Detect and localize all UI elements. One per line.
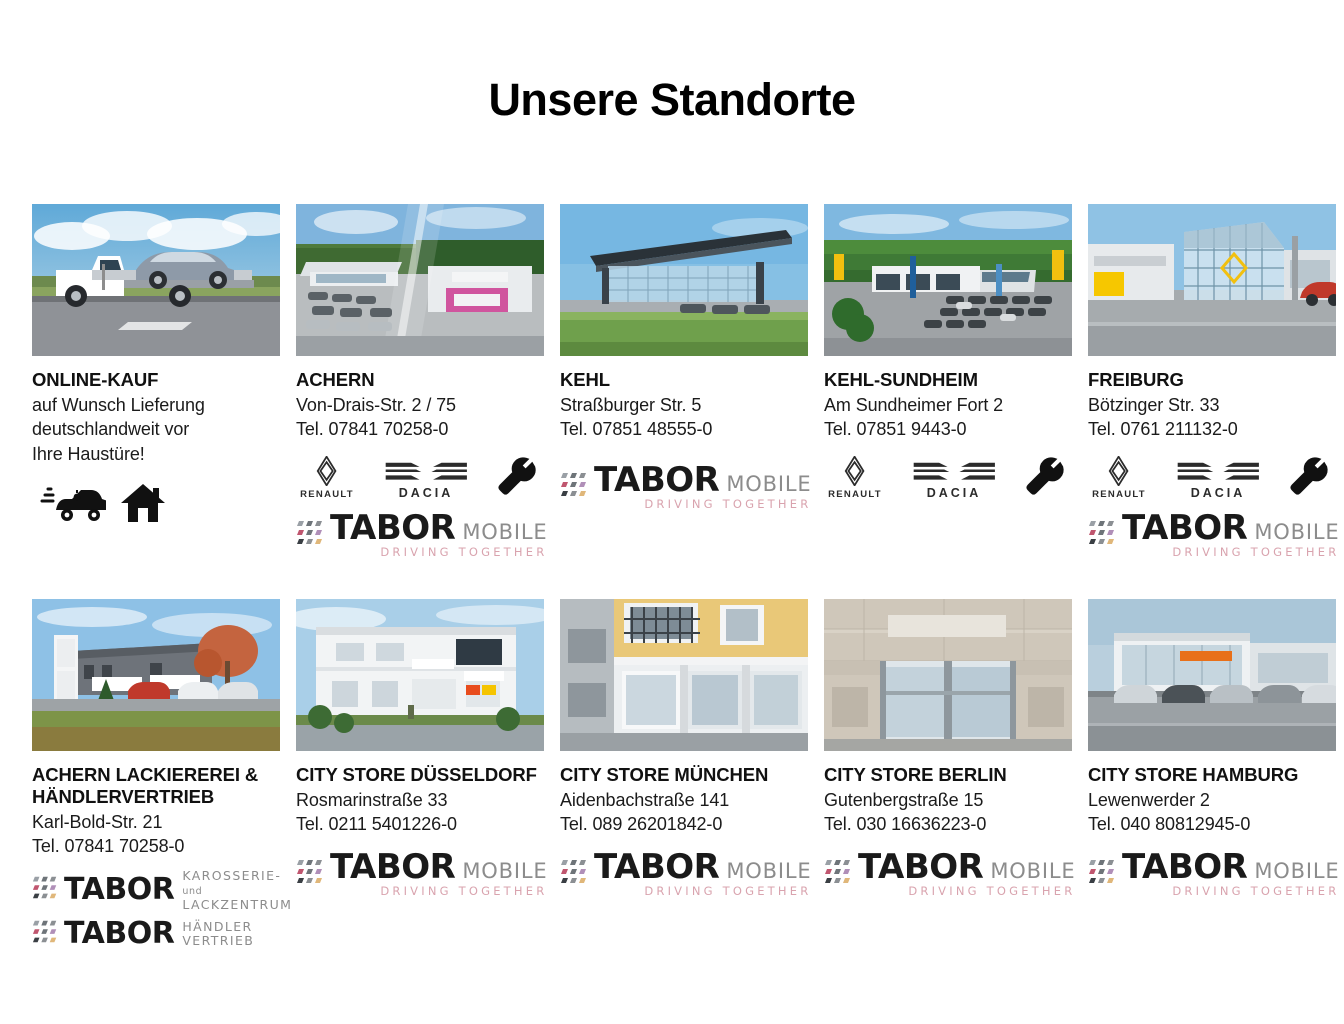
- renault-diamond-icon: [315, 456, 338, 486]
- card-body: KEHL Straßburger Str. 5 Tel. 07851 48555…: [560, 356, 808, 511]
- location-card-achern[interactable]: ACHERN Von-Drais-Str. 2 / 75 Tel. 07841 …: [296, 204, 544, 559]
- location-address: Aidenbachstraße 141: [560, 788, 808, 812]
- locations-row-1: ONLINE-KAUF auf Wunsch Lieferung deutsch…: [32, 204, 1312, 559]
- renault-logo: RENAULT: [1088, 456, 1150, 500]
- tabor-wordmark: TABOR: [594, 464, 719, 496]
- renault-wordmark: RENAULT: [296, 489, 358, 500]
- location-details: auf Wunsch Lieferung deutschlandweit vor…: [32, 393, 280, 466]
- tabor-karosserie-logo: TABOR KAROSSERIE- und LACKZENTRUM: [32, 869, 280, 912]
- location-details: Rosmarinstraße 33 Tel. 0211 5401226-0: [296, 788, 544, 837]
- location-phone: Tel. 040 80812945-0: [1088, 812, 1336, 836]
- card-body: CITY STORE HAMBURG Lewenwerder 2 Tel. 04…: [1088, 751, 1336, 898]
- renault-wordmark: RENAULT: [1088, 489, 1150, 500]
- tabor-wordmark: TABOR: [64, 920, 174, 949]
- location-card-city-store-hamburg[interactable]: CITY STORE HAMBURG Lewenwerder 2 Tel. 04…: [1088, 599, 1336, 951]
- tabor-wordmark-block: TABOR MOBILE DRIVING TOGETHER: [330, 512, 547, 559]
- dacia-emblem-icon: [1176, 461, 1261, 483]
- location-line-1: auf Wunsch Lieferung: [32, 393, 280, 417]
- photo-hamburg-showroom-streetview: [1088, 599, 1336, 751]
- location-details: Bötzinger Str. 33 Tel. 0761 211132-0: [1088, 393, 1336, 442]
- tabor-sub-karosserie-line-2: LACKZENTRUM: [182, 897, 292, 912]
- location-phone: Tel. 07841 70258-0: [32, 834, 280, 858]
- tabor-mobile-logo: TABOR MOBILE DRIVING TOGETHER: [1088, 851, 1336, 898]
- location-card-kehl-sundheim[interactable]: KEHL-SUNDHEIM Am Sundheimer Fort 2 Tel. …: [824, 204, 1072, 559]
- card-body: FREIBURG Bötzinger Str. 33 Tel. 0761 211…: [1088, 356, 1336, 559]
- card-body: CITY STORE MÜNCHEN Aidenbachstraße 141 T…: [560, 751, 808, 898]
- location-address: Am Sundheimer Fort 2: [824, 393, 1072, 417]
- location-name-line-1: ACHERN LACKIEREREI &: [32, 764, 280, 786]
- tabor-wordmark: TABOR: [594, 851, 719, 883]
- photo-muenchen-yellow-facade: [560, 599, 808, 751]
- location-card-freiburg[interactable]: FREIBURG Bötzinger Str. 33 Tel. 0761 211…: [1088, 204, 1336, 559]
- photo-duesseldorf-white-building: [296, 599, 544, 751]
- photo-freiburg-renault-showroom: [1088, 204, 1336, 356]
- tabor-sub-karosserie: KAROSSERIE- und LACKZENTRUM: [182, 869, 292, 912]
- location-address: Lewenwerder 2: [1088, 788, 1336, 812]
- photo-berlin-stone-facade-entrance: [824, 599, 1072, 751]
- tabor-mobile-logo: TABOR MOBILE DRIVING TOGETHER: [824, 851, 1072, 898]
- tabor-sub-mobile: MOBILE: [726, 861, 811, 882]
- location-name: KEHL-SUNDHEIM: [824, 369, 1072, 391]
- dacia-wordmark: DACIA: [902, 486, 1006, 500]
- location-name: CITY STORE MÜNCHEN: [560, 764, 808, 786]
- tabor-mobile-logo: TABOR MOBILE DRIVING TOGETHER: [560, 464, 808, 511]
- location-name: ACHERN: [296, 369, 544, 391]
- location-name-line-2: HÄNDLERVERTRIEB: [32, 786, 280, 808]
- location-details: Am Sundheimer Fort 2 Tel. 07851 9443-0: [824, 393, 1072, 442]
- tabor-sub-mobile: MOBILE: [726, 474, 811, 495]
- location-phone: Tel. 07851 48555-0: [560, 417, 808, 441]
- tabor-wordmark-block: TABOR MOBILE DRIVING TOGETHER: [1122, 851, 1339, 898]
- wrench-icon: [1288, 456, 1330, 500]
- tabor-dots-icon: [32, 918, 60, 951]
- tabor-sub-mobile: MOBILE: [462, 861, 547, 882]
- tabor-sub-mobile: MOBILE: [462, 522, 547, 543]
- location-line-3: Ihre Haustüre!: [32, 442, 280, 466]
- location-line-2: deutschlandweit vor: [32, 417, 280, 441]
- card-body: ACHERN LACKIEREREI & HÄNDLERVERTRIEB Kar…: [32, 751, 280, 951]
- location-address: Karl-Bold-Str. 21: [32, 810, 280, 834]
- dacia-wordmark: DACIA: [374, 486, 478, 500]
- location-card-online-kauf[interactable]: ONLINE-KAUF auf Wunsch Lieferung deutsch…: [32, 204, 280, 559]
- tabor-wordmark: TABOR: [330, 851, 455, 883]
- location-name: ACHERN LACKIEREREI & HÄNDLERVERTRIEB: [32, 764, 280, 808]
- tabor-wordmark-block: TABOR MOBILE DRIVING TOGETHER: [594, 464, 811, 511]
- tabor-haendlervertrieb-logo: TABOR HÄNDLER VERTRIEB: [32, 918, 280, 951]
- tabor-sub-haendler-line-2: VERTRIEB: [182, 933, 254, 948]
- dacia-emblem-icon: [384, 461, 469, 483]
- location-phone: Tel. 030 16636223-0: [824, 812, 1072, 836]
- location-address: Gutenbergstraße 15: [824, 788, 1072, 812]
- location-details: Von-Drais-Str. 2 / 75 Tel. 07841 70258-0: [296, 393, 544, 442]
- tabor-mobile-logo: TABOR MOBILE DRIVING TOGETHER: [1088, 512, 1336, 559]
- location-address: Rosmarinstraße 33: [296, 788, 544, 812]
- photo-kehl-glass-showroom: [560, 204, 808, 356]
- location-card-kehl[interactable]: KEHL Straßburger Str. 5 Tel. 07851 48555…: [560, 204, 808, 559]
- locations-grid: ONLINE-KAUF auf Wunsch Lieferung deutsch…: [32, 204, 1312, 951]
- tabor-wordmark-block: TABOR MOBILE DRIVING TOGETHER: [330, 851, 547, 898]
- photo-achern-dealership-exterior: [296, 204, 544, 356]
- tabor-wordmark: TABOR: [64, 876, 174, 905]
- location-name: CITY STORE HAMBURG: [1088, 764, 1336, 786]
- renault-diamond-icon: [843, 456, 866, 486]
- tabor-dots-icon: [560, 470, 590, 505]
- tabor-sub-haendler: HÄNDLER VERTRIEB: [182, 920, 254, 948]
- location-card-city-store-muenchen[interactable]: CITY STORE MÜNCHEN Aidenbachstraße 141 T…: [560, 599, 808, 951]
- location-details: Aidenbachstraße 141 Tel. 089 26201842-0: [560, 788, 808, 837]
- online-kauf-icons: [32, 482, 280, 524]
- card-body: CITY STORE DÜSSELDORF Rosmarinstraße 33 …: [296, 751, 544, 898]
- renault-logo: RENAULT: [824, 456, 886, 500]
- location-phone: Tel. 089 26201842-0: [560, 812, 808, 836]
- tabor-dots-icon: [296, 857, 326, 892]
- tabor-mobile-logo: TABOR MOBILE DRIVING TOGETHER: [560, 851, 808, 898]
- card-body: KEHL-SUNDHEIM Am Sundheimer Fort 2 Tel. …: [824, 356, 1072, 500]
- location-details: Lewenwerder 2 Tel. 040 80812945-0: [1088, 788, 1336, 837]
- location-phone: Tel. 0211 5401226-0: [296, 812, 544, 836]
- location-details: Gutenbergstraße 15 Tel. 030 16636223-0: [824, 788, 1072, 837]
- tabor-dots-icon: [32, 874, 60, 907]
- location-card-city-store-duesseldorf[interactable]: CITY STORE DÜSSELDORF Rosmarinstraße 33 …: [296, 599, 544, 951]
- location-details: Karl-Bold-Str. 21 Tel. 07841 70258-0: [32, 810, 280, 859]
- renault-wordmark: RENAULT: [824, 489, 886, 500]
- tabor-dots-icon: [1088, 518, 1118, 553]
- tabor-sub-karosserie-und: und: [182, 886, 202, 897]
- locations-row-2: ACHERN LACKIEREREI & HÄNDLERVERTRIEB Kar…: [32, 599, 1312, 951]
- location-name: CITY STORE BERLIN: [824, 764, 1072, 786]
- card-body: CITY STORE BERLIN Gutenbergstraße 15 Tel…: [824, 751, 1072, 898]
- dacia-wordmark: DACIA: [1166, 486, 1270, 500]
- location-card-achern-lackiererei[interactable]: ACHERN LACKIEREREI & HÄNDLERVERTRIEB Kar…: [32, 599, 280, 951]
- tabor-wordmark-block: TABOR MOBILE DRIVING TOGETHER: [858, 851, 1075, 898]
- tabor-wordmark: TABOR: [1122, 851, 1247, 883]
- tabor-dots-icon: [1088, 857, 1118, 892]
- tabor-sub-haendler-line-1: HÄNDLER: [182, 919, 252, 934]
- location-phone: Tel. 07841 70258-0: [296, 417, 544, 441]
- tabor-dots-icon: [824, 857, 854, 892]
- location-address: Bötzinger Str. 33: [1088, 393, 1336, 417]
- tabor-wordmark: TABOR: [1122, 512, 1247, 544]
- location-name: ONLINE-KAUF: [32, 369, 280, 391]
- card-body: ACHERN Von-Drais-Str. 2 / 75 Tel. 07841 …: [296, 356, 544, 559]
- tabor-wordmark: TABOR: [330, 512, 455, 544]
- location-address: Straßburger Str. 5: [560, 393, 808, 417]
- tabor-mobile-logo: TABOR MOBILE DRIVING TOGETHER: [296, 851, 544, 898]
- wrench-icon: [1024, 456, 1066, 500]
- tabor-wordmark-block: TABOR MOBILE DRIVING TOGETHER: [594, 851, 811, 898]
- location-card-city-store-berlin[interactable]: CITY STORE BERLIN Gutenbergstraße 15 Tel…: [824, 599, 1072, 951]
- tabor-sub-mobile: MOBILE: [1254, 861, 1339, 882]
- tabor-dots-icon: [296, 518, 326, 553]
- brand-logo-row: RENAULT DACIA: [824, 456, 1072, 500]
- dacia-logo: DACIA: [374, 461, 478, 500]
- renault-diamond-icon: [1107, 456, 1130, 486]
- brand-logo-row: RENAULT DACIA: [1088, 456, 1336, 500]
- photo-achern-lackiererei-building: [32, 599, 280, 751]
- dacia-logo: DACIA: [1166, 461, 1270, 500]
- car-delivery-icon: [32, 484, 106, 524]
- renault-logo: RENAULT: [296, 456, 358, 500]
- location-name: FREIBURG: [1088, 369, 1336, 391]
- locations-page: Unsere Standorte: [0, 0, 1344, 1024]
- location-phone: Tel. 07851 9443-0: [824, 417, 1072, 441]
- location-name: CITY STORE DÜSSELDORF: [296, 764, 544, 786]
- page-title: Unsere Standorte: [0, 74, 1344, 126]
- dacia-emblem-icon: [912, 461, 997, 483]
- location-address: Von-Drais-Str. 2 / 75: [296, 393, 544, 417]
- dacia-logo: DACIA: [902, 461, 1006, 500]
- photo-tow-truck-with-car: [32, 204, 280, 356]
- photo-kehl-sundheim-aerial-lot: [824, 204, 1072, 356]
- location-details: Straßburger Str. 5 Tel. 07851 48555-0: [560, 393, 808, 442]
- tabor-dots-icon: [560, 857, 590, 892]
- tabor-mobile-logo: TABOR MOBILE DRIVING TOGETHER: [296, 512, 544, 559]
- tabor-sub-karosserie-line-1: KAROSSERIE- und: [182, 868, 281, 898]
- tabor-wordmark-block: TABOR MOBILE DRIVING TOGETHER: [1122, 512, 1339, 559]
- location-name: KEHL: [560, 369, 808, 391]
- tabor-sub-mobile: MOBILE: [990, 861, 1075, 882]
- location-phone: Tel. 0761 211132-0: [1088, 417, 1336, 441]
- brand-logo-row: RENAULT DACIA: [296, 456, 544, 500]
- wrench-icon: [496, 456, 538, 500]
- card-body: ONLINE-KAUF auf Wunsch Lieferung deutsch…: [32, 356, 280, 524]
- tabor-wordmark: TABOR: [858, 851, 983, 883]
- house-icon: [120, 482, 166, 524]
- tabor-sub-mobile: MOBILE: [1254, 522, 1339, 543]
